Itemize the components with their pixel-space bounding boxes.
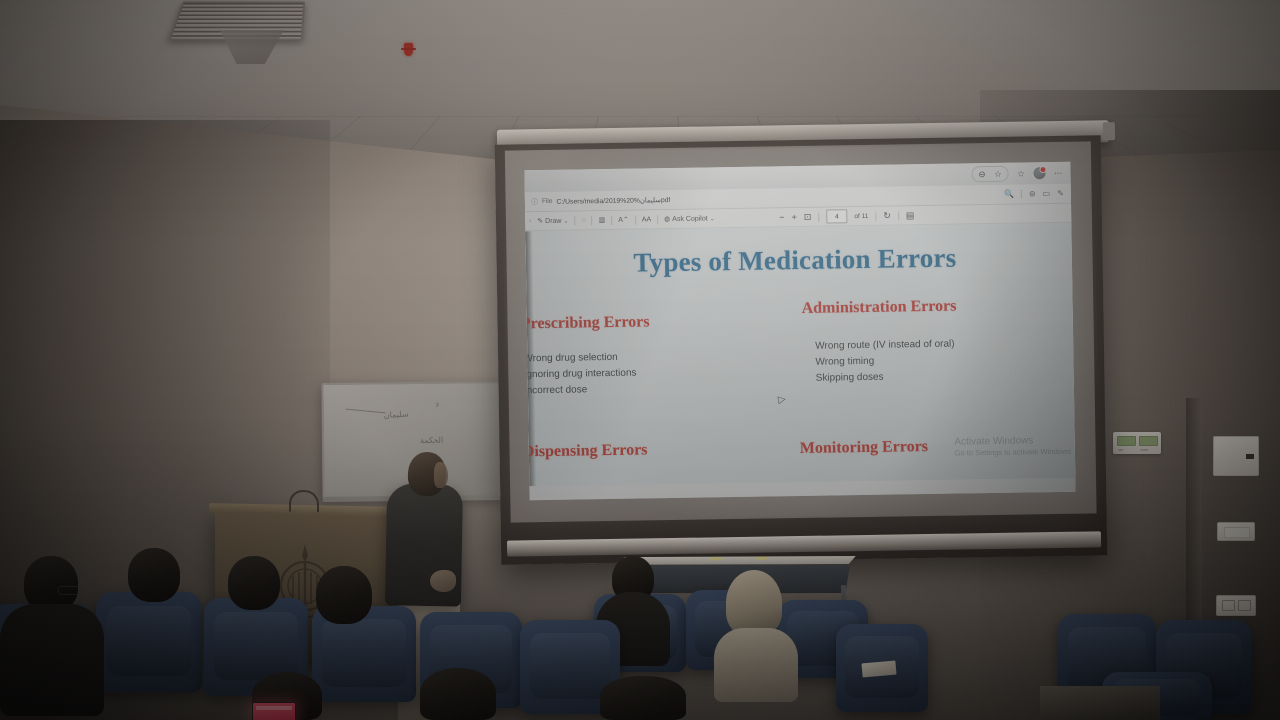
collections-icon[interactable]: ☆ <box>1014 167 1027 180</box>
text-size-icon[interactable]: AA <box>642 216 651 223</box>
heading-dispensing-errors: Dispensing Errors <box>525 441 647 461</box>
copilot-label: Ask Copilot <box>672 215 708 223</box>
divider <box>1021 189 1022 198</box>
watermark-line-1: Activate Windows <box>954 435 1070 448</box>
zoom-in-button[interactable]: + <box>791 212 796 222</box>
divider <box>574 216 575 225</box>
whiteboard-text-2: لا <box>436 402 439 409</box>
student-silhouette <box>0 604 104 716</box>
zoom-icon[interactable]: ⊖ <box>975 168 988 181</box>
wall-control-box[interactable] <box>1213 436 1259 476</box>
thermostat-display-left <box>1117 436 1136 446</box>
thermostat-panel[interactable]: SET TEMP <box>1113 432 1161 454</box>
url-path-text: C:/Users/media/2019%سليمان%20pdf <box>556 196 670 206</box>
search-icon[interactable]: 🔍 <box>1004 190 1014 199</box>
student-glasses-icon <box>58 586 82 595</box>
desk-item <box>710 557 722 560</box>
draw-tool[interactable]: ✎ Draw ⌄ <box>537 217 568 225</box>
outlet-socket-right <box>1238 600 1251 611</box>
profile-avatar[interactable] <box>1033 167 1045 179</box>
divider <box>657 215 658 224</box>
fit-page-icon[interactable]: ⊡ <box>804 211 812 222</box>
lecture-hall-photo: SET TEMP سليمان لا الحكمة ⊖ ☆ ☆ ⋯ <box>0 0 1280 720</box>
control-box-slot <box>1246 454 1254 459</box>
presenter-hand <box>430 570 456 592</box>
side-table <box>1040 686 1160 720</box>
windows-activation-watermark: Activate Windows Go to Settings to activ… <box>954 435 1071 458</box>
read-aloud-icon[interactable]: ⊜ <box>1029 189 1036 198</box>
divider <box>635 215 636 224</box>
presenter-face <box>434 462 448 488</box>
notes-icon[interactable]: ▤ <box>906 210 915 221</box>
read-aloud-icon[interactable]: A⌃ <box>618 216 629 224</box>
list-item: Incorrect dose <box>525 382 636 400</box>
heading-monitoring-errors: Monitoring Errors <box>800 438 928 458</box>
favorite-icon[interactable]: ☆ <box>991 167 1004 180</box>
list-administration-errors: Wrong route (IV instead of oral) Wrong t… <box>815 337 955 388</box>
pdf-toolbar-center: − + ⊡ 4 of 11 ↻ ▤ <box>779 208 914 224</box>
whiteboard-stroke <box>346 409 386 414</box>
slide-title: Types of Medication Errors <box>525 241 1068 281</box>
ask-copilot-button[interactable]: ◍ Ask Copilot ⌄ <box>664 214 715 223</box>
desk-surface <box>618 555 856 566</box>
whiteboard-text-1: سليمان <box>383 409 408 420</box>
heading-administration-errors: Administration Errors <box>802 298 957 318</box>
student-head <box>600 676 686 720</box>
watermark-line-2: Go to Settings to activate Windows <box>955 447 1071 458</box>
projected-browser-window[interactable]: ⊖ ☆ ☆ ⋯ ⓘ File C:/Users/media/2019%سليما… <box>524 162 1075 501</box>
divider <box>592 216 593 225</box>
highlight-icon[interactable]: ◌ <box>581 217 585 224</box>
list-item: Skipping doses <box>816 369 956 387</box>
screen-bottom-weight-bar <box>507 531 1101 556</box>
power-outlet[interactable] <box>1216 595 1256 616</box>
list-item: Ignoring drug interactions <box>525 366 636 384</box>
thermostat-display-right <box>1139 436 1158 446</box>
divider <box>818 212 819 221</box>
address-bar-content[interactable]: ⓘ File C:/Users/media/2019%سليمان%20pdf <box>525 189 1004 207</box>
notebook <box>861 661 896 678</box>
thermostat-label-left: SET <box>1118 448 1124 452</box>
phone-screen[interactable] <box>252 702 296 720</box>
rotate-icon[interactable]: ↻ <box>883 210 891 221</box>
thermostat-label-right: TEMP <box>1140 448 1148 452</box>
list-prescribing-errors: Wrong drug selection Ignoring drug inter… <box>525 350 636 400</box>
desk-item <box>756 557 768 560</box>
page-total-label: of 11 <box>854 212 868 219</box>
divider <box>611 215 612 224</box>
fire-sprinkler-icon <box>404 43 413 56</box>
back-caret-icon[interactable]: ‹ <box>529 218 531 224</box>
layout-icon[interactable]: ▥ <box>599 216 606 224</box>
student-head <box>316 566 372 624</box>
pdf-slide-page: Types of Medication Errors Prescribing E… <box>525 223 1075 487</box>
copilot-caret-icon[interactable]: ⌄ <box>710 215 715 222</box>
list-item: Wrong route (IV instead of oral) <box>815 337 955 355</box>
student-head <box>228 556 280 610</box>
info-icon[interactable]: ⓘ <box>531 197 538 207</box>
mouse-cursor-icon: ▷ <box>777 395 785 406</box>
avatar-badge <box>1039 166 1046 173</box>
list-item: Wrong drug selection <box>525 350 636 368</box>
page-number-input[interactable]: 4 <box>826 209 847 223</box>
copilot-icon: ◍ <box>664 215 670 223</box>
draw-caret-icon[interactable]: ⌄ <box>563 217 568 224</box>
microphone-icon <box>289 490 319 513</box>
address-bar-actions: 🔍 ⊜ ▭ ✎ <box>1004 189 1071 199</box>
screen-housing-end-cap <box>1103 122 1115 140</box>
student-head <box>128 548 180 602</box>
divider <box>898 211 899 220</box>
edit-icon[interactable]: ✎ <box>1057 189 1064 198</box>
split-view-icon[interactable]: ▭ <box>1043 189 1051 198</box>
student-head <box>420 668 496 720</box>
draw-pen-icon: ✎ <box>537 217 543 225</box>
url-scheme-label: File <box>542 198 553 205</box>
student-shoulders <box>714 628 798 702</box>
more-icon[interactable]: ⋯ <box>1051 166 1064 179</box>
heading-prescribing-errors: Prescribing Errors <box>525 313 649 333</box>
divider <box>875 211 876 220</box>
student-headscarf <box>726 570 782 636</box>
whiteboard-text-3: الحكمة <box>420 436 443 445</box>
auditorium-seat <box>96 592 202 692</box>
light-switch[interactable] <box>1217 522 1255 541</box>
outlet-socket-left <box>1222 600 1235 611</box>
draw-label: Draw <box>545 217 561 224</box>
pdf-toolbar-left: ‹ ✎ Draw ⌄ ◌ ▥ A⌃ AA ◍ Ask Copilot ⌄ <box>525 214 715 226</box>
zoom-out-button[interactable]: − <box>779 212 784 222</box>
zoom-favorite-group[interactable]: ⊖ ☆ <box>971 166 1008 183</box>
